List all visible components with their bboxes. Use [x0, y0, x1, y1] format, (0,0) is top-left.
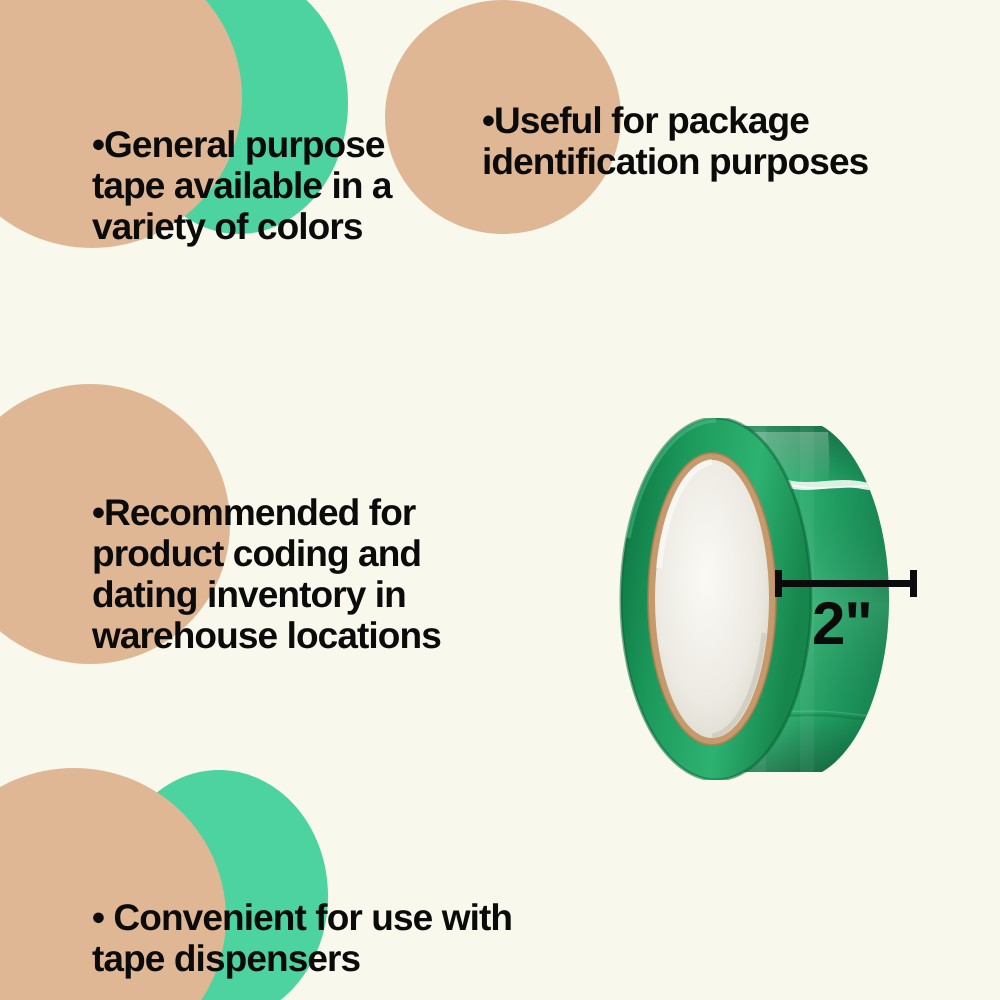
feature-bullet-product-coding: •Recommended for product coding and dati…: [92, 492, 522, 656]
dimension-cap-right-icon: [910, 570, 917, 597]
feature-bullet-tape-dispensers: • Convenient for use with tape dispenser…: [92, 897, 562, 979]
infographic-canvas: •General purpose tape available in a var…: [0, 0, 1000, 1000]
tape-core-opening: [655, 460, 769, 738]
dimension-line: [776, 580, 916, 587]
dimension-cap-left-icon: [775, 570, 782, 597]
feature-bullet-package-identification: •Useful for package identification purpo…: [482, 100, 942, 182]
dimension-label: 2": [812, 594, 872, 654]
tape-width-dimension: 2": [770, 566, 922, 670]
feature-bullet-general-purpose: •General purpose tape available in a var…: [92, 124, 397, 247]
